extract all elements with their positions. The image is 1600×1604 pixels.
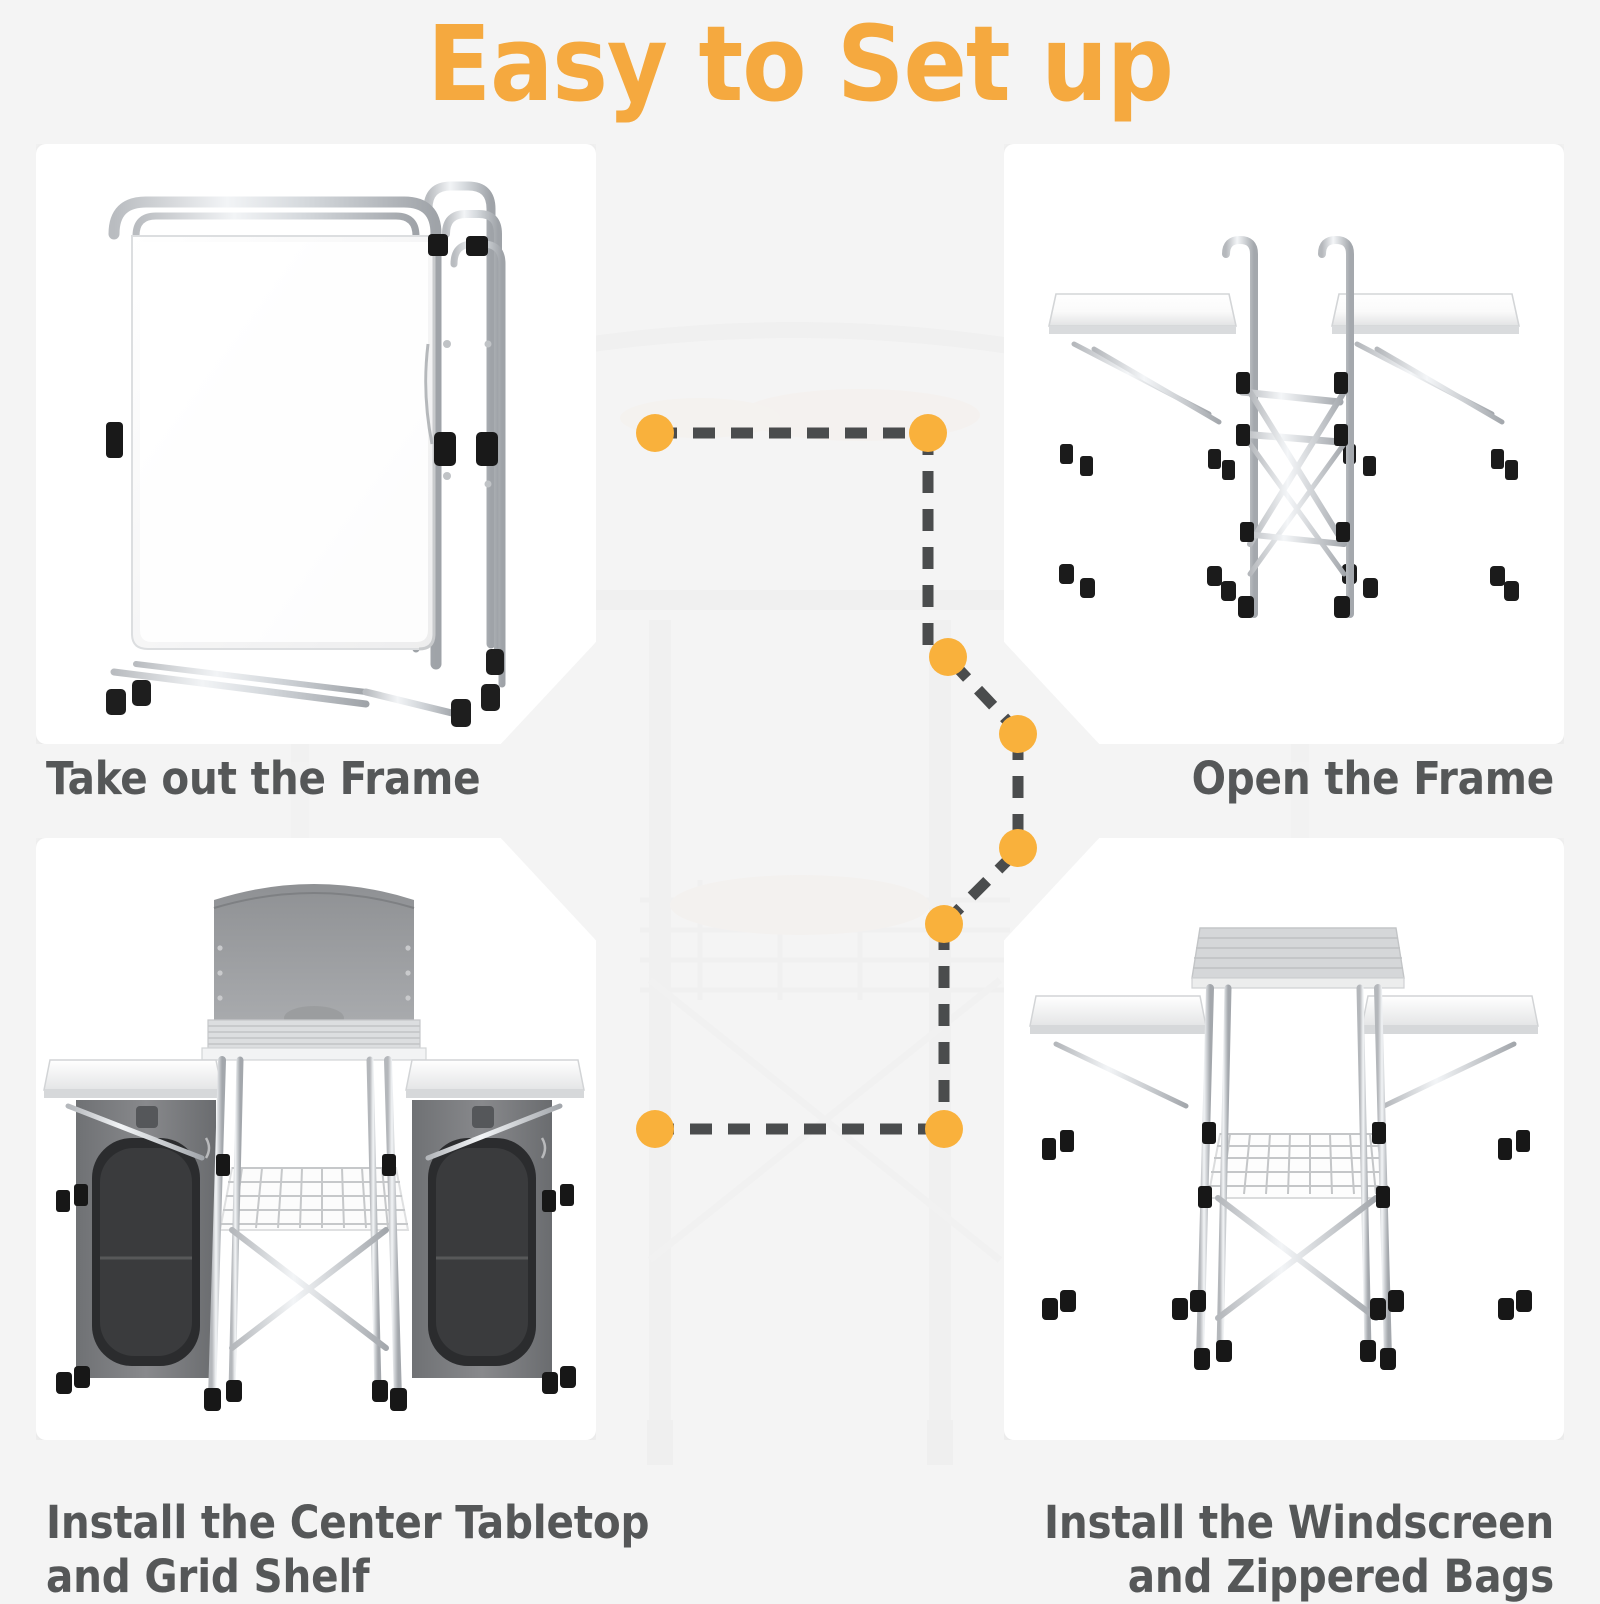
flow-dot-6 [925, 905, 963, 943]
infographic-canvas: Easy to Set up [0, 0, 1600, 1600]
flow-dot-8 [636, 1110, 674, 1148]
flow-dashed-line [655, 433, 1018, 1129]
flow-dot-1 [636, 414, 674, 452]
flow-dot-4 [999, 715, 1037, 753]
flow-dot-7 [925, 1110, 963, 1148]
flow-dot-5 [999, 829, 1037, 867]
flow-dots [636, 414, 1037, 1148]
flow-dot-3 [929, 638, 967, 676]
flow-dot-2 [909, 414, 947, 452]
step-flow-connector [0, 0, 1600, 1600]
